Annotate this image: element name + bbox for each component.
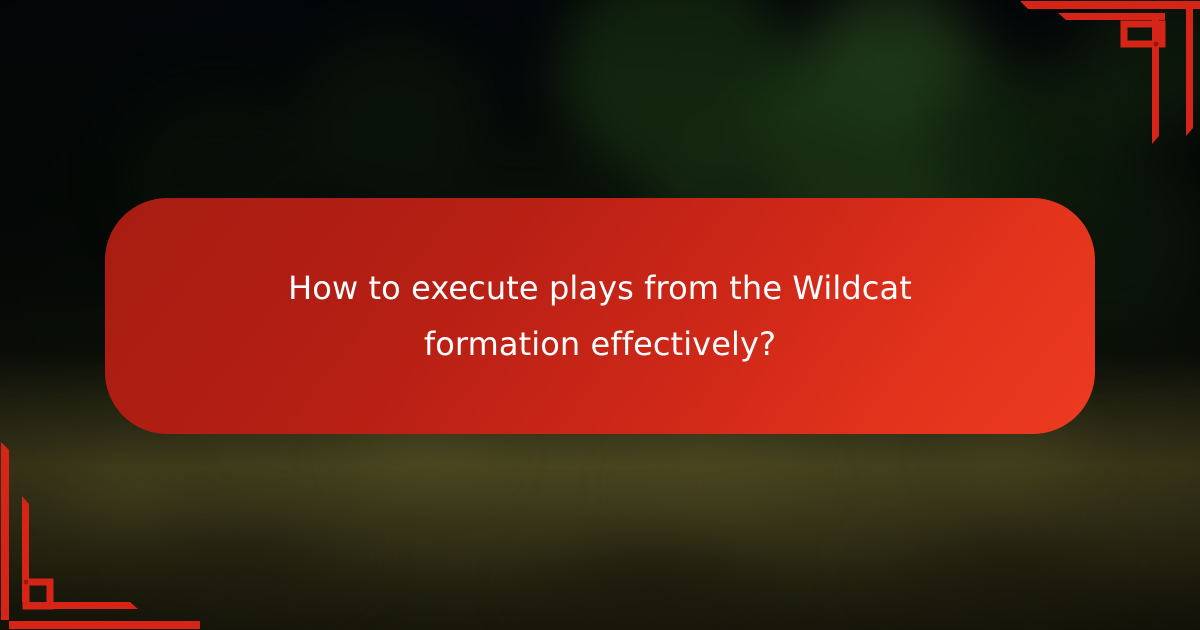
question-card[interactable]: How to execute plays from the Wildcat fo…: [105, 198, 1095, 434]
share-card-canvas: How to execute plays from the Wildcat fo…: [0, 0, 1200, 630]
question-text: How to execute plays from the Wildcat fo…: [260, 260, 940, 372]
